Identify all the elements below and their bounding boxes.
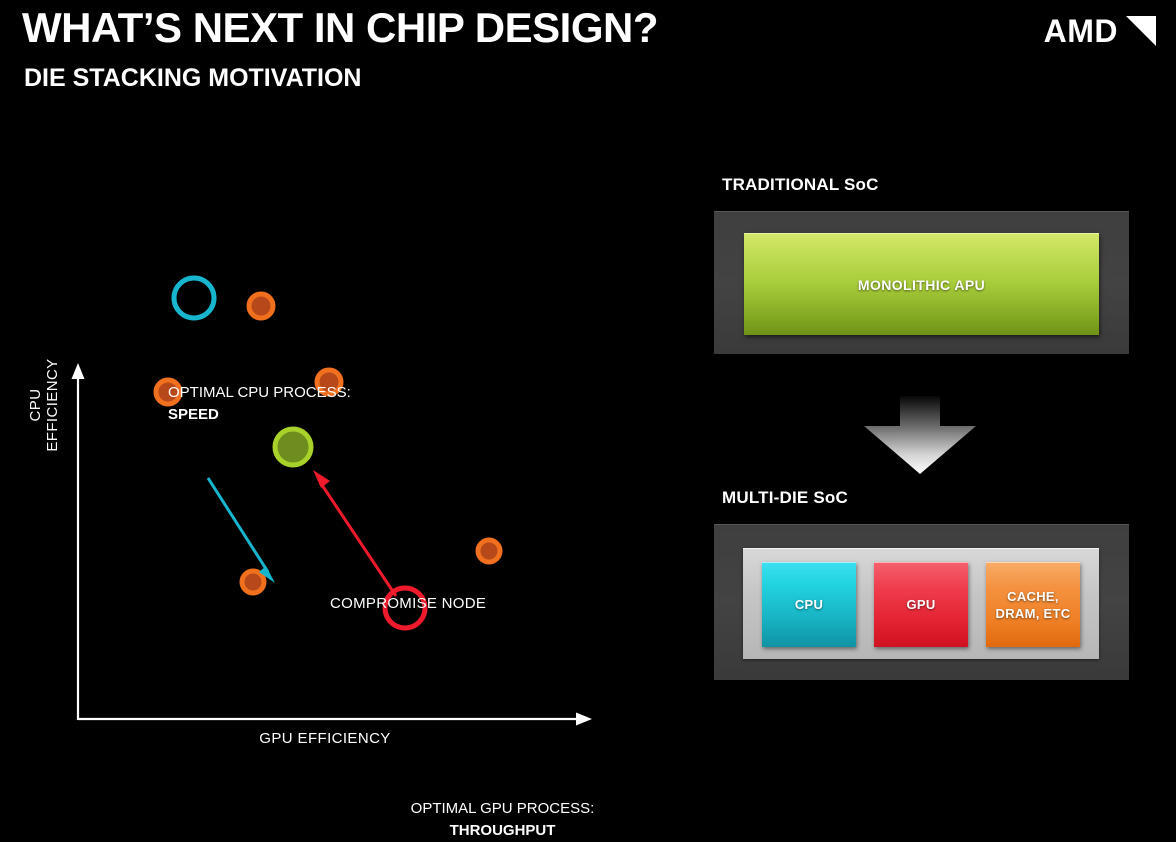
optimal-cpu-annotation-line1: OPTIMAL CPU PROCESS: <box>168 382 351 404</box>
optimal-cpu-annotation: OPTIMAL CPU PROCESS: SPEED <box>168 382 351 426</box>
gpu-die-label: GPU <box>906 596 935 613</box>
gpu-to-compromise-arrow <box>313 470 396 596</box>
cpu-die-label: CPU <box>795 596 823 613</box>
efficiency-tradeoff-chart: CPU EFFICIENCY GPU EFFICIENCY OPTIMAL CP… <box>0 160 660 758</box>
multi-die-soc-package: CPU GPU CACHE, DRAM, ETC <box>714 524 1129 680</box>
soc-comparison-diagram: TRADITIONAL SoC MONOLITHIC APU MULTI-DIE… <box>700 160 1176 758</box>
cpu-die: CPU <box>762 562 856 647</box>
cache-dram-die-label: CACHE, DRAM, ETC <box>996 588 1071 622</box>
optimal-cpu-annotation-line2: SPEED <box>168 404 351 426</box>
y-axis <box>72 363 85 720</box>
gpu-die: GPU <box>874 562 968 647</box>
optimal-cpu-node-marker <box>174 278 214 318</box>
process-node-markers <box>156 294 500 593</box>
down-arrow-icon <box>860 396 980 476</box>
cache-dram-die-label-line1: CACHE, <box>1007 589 1059 604</box>
compromise-node-label: COMPROMISE NODE <box>330 595 486 612</box>
chart-canvas <box>0 160 660 758</box>
traditional-soc-package: MONOLITHIC APU <box>714 211 1129 354</box>
y-axis-label: CPU EFFICIENCY <box>27 345 61 465</box>
amd-logo: AMD <box>1044 14 1158 48</box>
page-title: WHAT’S NEXT IN CHIP DESIGN? <box>22 4 658 52</box>
x-axis-label: GPU EFFICIENCY <box>200 730 450 747</box>
multi-die-soc-heading: MULTI-DIE SoC <box>722 488 848 508</box>
compromise-node-marker <box>275 429 311 465</box>
page-subtitle: DIE STACKING MOTIVATION <box>24 64 362 93</box>
optimal-gpu-annotation-line2: THROUGHPUT <box>390 820 615 842</box>
cache-dram-die: CACHE, DRAM, ETC <box>986 562 1080 647</box>
monolithic-apu-label: MONOLITHIC APU <box>858 277 985 293</box>
amd-arrow-icon <box>1124 14 1158 48</box>
optimal-gpu-annotation-line1: OPTIMAL GPU PROCESS: <box>390 798 615 820</box>
cache-dram-die-label-line2: DRAM, ETC <box>996 606 1071 621</box>
traditional-soc-heading: TRADITIONAL SoC <box>722 175 879 195</box>
cpu-to-compromise-arrow <box>208 478 275 583</box>
monolithic-apu-die: MONOLITHIC APU <box>744 233 1099 335</box>
x-axis <box>78 713 592 726</box>
slide: WHAT’S NEXT IN CHIP DESIGN? DIE STACKING… <box>0 0 1176 758</box>
die-tray: CPU GPU CACHE, DRAM, ETC <box>743 548 1099 659</box>
amd-wordmark: AMD <box>1044 15 1118 47</box>
optimal-gpu-annotation: OPTIMAL GPU PROCESS: THROUGHPUT <box>390 798 615 842</box>
